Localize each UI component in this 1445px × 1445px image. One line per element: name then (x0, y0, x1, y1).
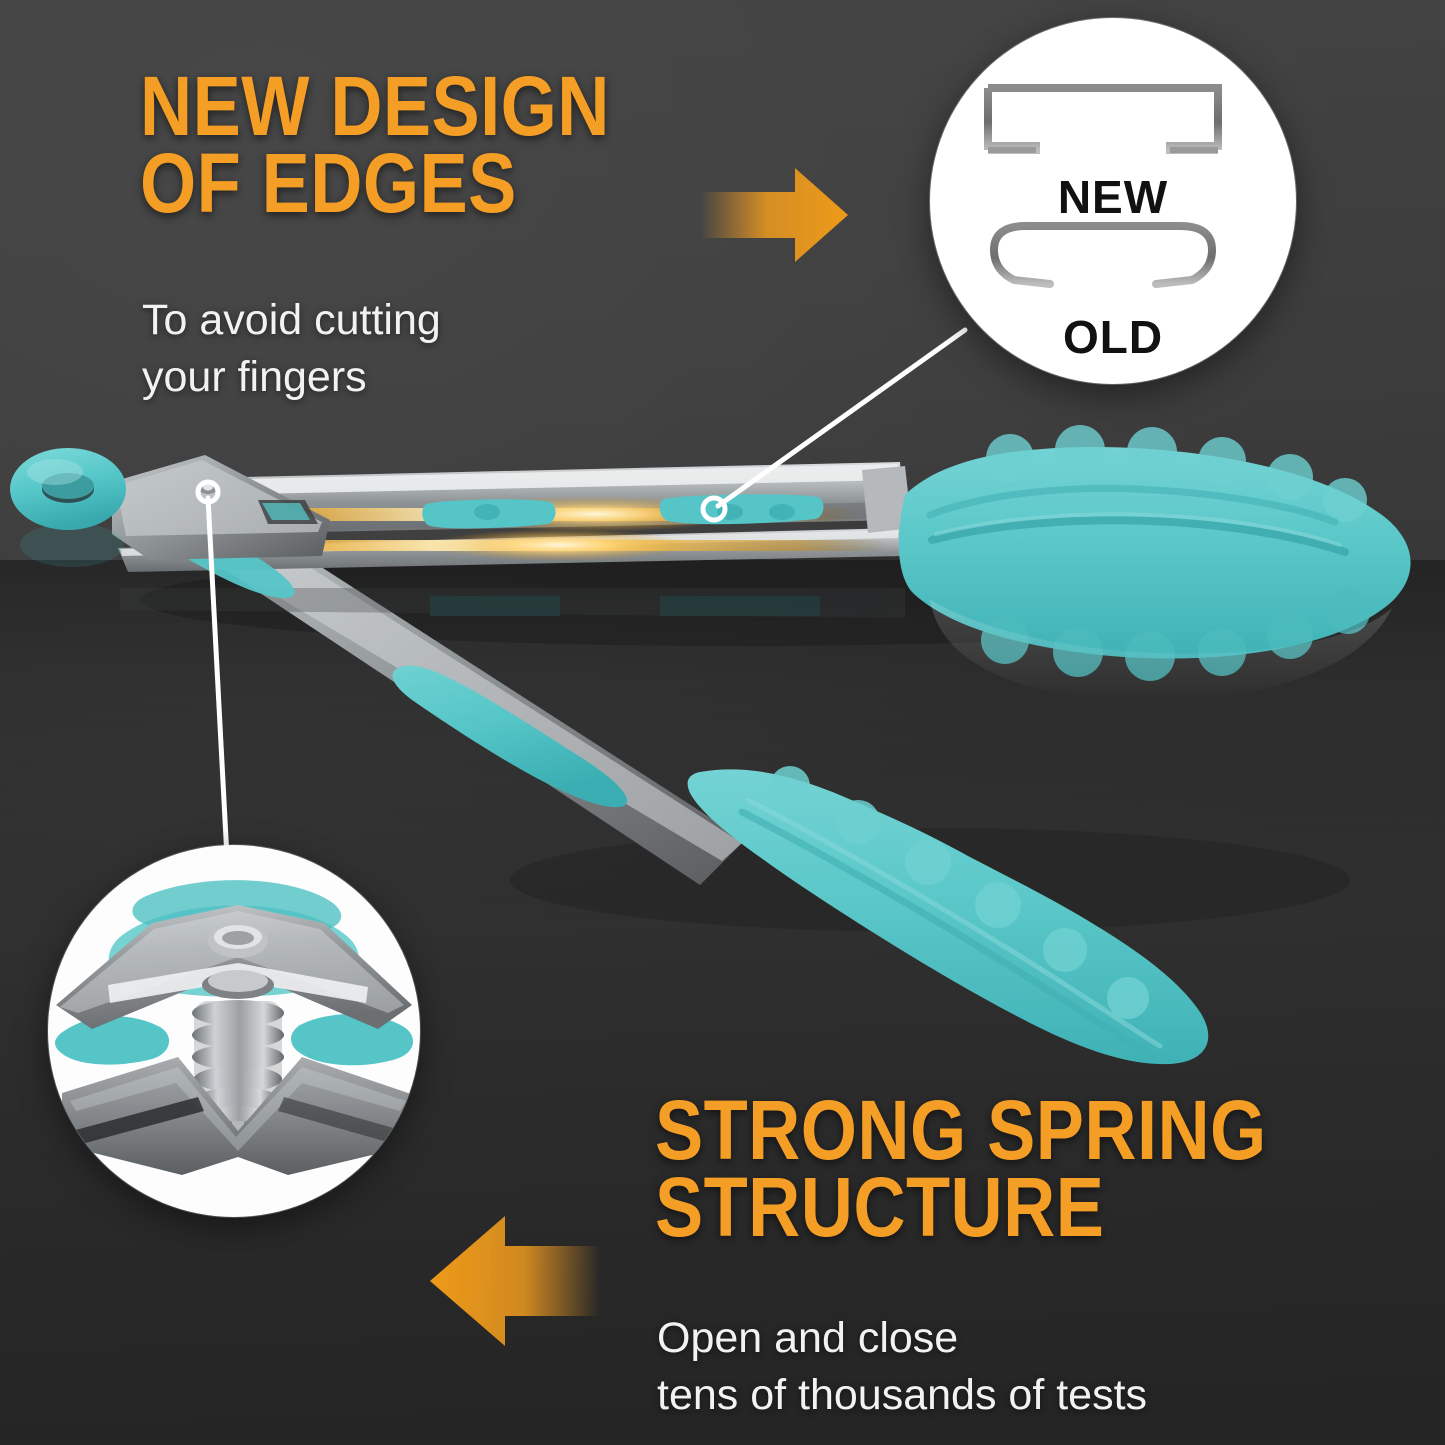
old-edge-profile (994, 226, 1212, 284)
tongs-hinge-assembly (10, 448, 330, 598)
headline-strong-spring-structure: STRONG SPRING STRUCTURE (655, 1092, 1267, 1247)
infographic-canvas: NEW OLD (0, 0, 1445, 1445)
new-edge-profile (988, 88, 1218, 150)
callout-edge-comparison: NEW OLD (930, 18, 1296, 384)
callout-spring-detail (48, 845, 420, 1217)
arrow-to-edges-callout (700, 168, 848, 262)
headline-new-design-of-edges: NEW DESIGN OF EDGES (140, 68, 610, 223)
old-edge-label: OLD (930, 310, 1296, 364)
spring-hinge-diagram (48, 845, 420, 1217)
tongs-upper-arm (112, 425, 1411, 701)
arrow-to-spring-callout (430, 1216, 600, 1346)
subtext-avoid-cutting-fingers: To avoid cutting your fingers (142, 292, 441, 406)
subtext-open-and-close-tests: Open and close tens of thousands of test… (657, 1310, 1147, 1424)
leader-line-edges (703, 330, 965, 520)
new-edge-label: NEW (930, 170, 1296, 224)
